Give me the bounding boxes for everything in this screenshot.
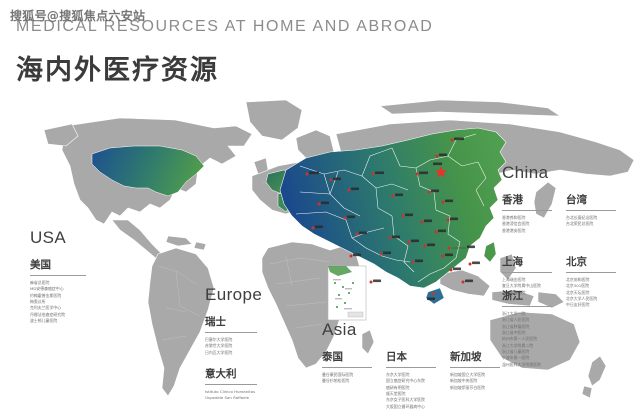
list-item: 香港港安医院 [502,228,552,234]
map-inset-south-china-sea [328,266,366,320]
list-item: Ospedale San Raffaele [205,395,262,401]
region-title-asia: Asia [322,320,500,340]
region-block-asia: Asia 泰国 曼谷康民国际医院 曼谷杉帕松医院 日本 东京大学医院 国立癌症研… [322,320,500,410]
column-head-taiwan: 台湾 [566,192,616,211]
infographic-page: 搜狐号@搜狐焦点六安站 MEDICAL RESOURCES AT HOME AN… [0,0,641,414]
page-title-cn: 海内外医疗资源 [16,48,433,87]
column-head-xianggang: 香港 [502,192,552,211]
region-block-usa: USA 美国 麻省总医院 MD安德森癌症中心 约翰霍普金斯医院 梅奥诊所 克利夫… [30,228,86,324]
column-head-ruishi: 瑞士 [205,314,257,333]
region-column-europe-0: 瑞士 巴塞尔大学医院 苏黎世大学医院 日内瓦大学医院 [205,314,262,356]
hospital-list-yidali: Istituto Clinico Humanitas Ospedale San … [205,389,262,402]
spacer [502,234,616,254]
hospital-list-ruishi: 巴塞尔大学医院 苏黎世大学医院 日内瓦大学医院 [205,337,262,356]
column-head-meiguo: 美国 [30,257,86,276]
column-head-shanghai: 上海 [502,254,552,273]
region-title-china: China [502,163,616,183]
hospital-list-taiwan: 台北长庚纪念医院 台北荣民总医院 [566,215,616,228]
list-item: 大阪国立循环器病中心 [386,404,436,410]
hospital-list-xianggang: 香港养和医院 香港浸信会医院 香港港安医院 [502,215,552,234]
list-item: 波士顿儿童医院 [30,318,86,324]
list-item: 新加坡伊丽莎白医院 [450,385,500,391]
region-title-europe: Europe [205,285,262,305]
column-head-taiguo: 泰国 [322,349,372,368]
region-column-china-hongkong: 香港 香港养和医院 香港浸信会医院 香港港安医院 [502,192,552,234]
region-block-china: China 香港 香港养和医院 香港浸信会医院 香港港安医院 台湾 台北长庚纪念… [502,163,616,309]
list-item: 台北荣民总医院 [566,221,616,227]
hospital-list-beijing: 北京协和医院 北京301医院 北京天坛医院 北京大学人民医院 中日友好医院 [566,277,616,309]
column-head-beijing: 北京 [566,254,616,273]
region-column-zhejiang: 浙江 浙江大学一院 浙江省人民医院 浙江省肿瘤医院 浙江省中医院 杭州市第一人民… [502,288,552,368]
hospital-list-zhejiang: 浙江大学一院 浙江省人民医院 浙江省肿瘤医院 浙江省中医院 杭州市第一人民医院 … [502,311,552,368]
hospital-list-meiguo: 麻省总医院 MD安德森癌症中心 约翰霍普金斯医院 梅奥诊所 克利夫兰医学中心 丹… [30,280,86,324]
column-head-zhejiang: 浙江 [502,288,552,307]
column-head-riben: 日本 [386,349,436,368]
region-column-asia-1: 日本 东京大学医院 国立癌症研究中心东院 癌研有明医院 顺天堂医院 东京女子医科… [386,349,436,410]
region-title-usa: USA [30,228,86,248]
list-item: 曼谷杉帕松医院 [322,378,372,384]
hospital-list-taiguo: 曼谷康民国际医院 曼谷杉帕松医院 [322,372,372,385]
region-column-asia-2: 新加坡 新加坡国立大学医院 新加坡中央医院 新加坡伊丽莎白医院 [450,349,500,410]
region-block-europe: Europe 瑞士 巴塞尔大学医院 苏黎世大学医院 日内瓦大学医院 意大利 Is… [205,285,262,402]
list-item: 温州医科大学附属医院 [502,362,552,368]
column-head-xinjiapo: 新加坡 [450,349,500,368]
region-column-europe-1: 意大利 Istituto Clinico Humanitas Ospedale … [205,366,262,402]
hospital-list-xinjiapo: 新加坡国立大学医院 新加坡中央医院 新加坡伊丽莎白医院 [450,372,500,391]
region-column-asia-0: 泰国 曼谷康民国际医院 曼谷杉帕松医院 [322,349,372,410]
region-column-china-beijing: 北京 北京协和医院 北京301医院 北京天坛医院 北京大学人民医院 中日友好医院 [566,254,616,309]
page-header: MEDICAL RESOURCES AT HOME AND ABROAD 海内外… [16,18,433,87]
column-head-yidali: 意大利 [205,366,257,385]
watermark-text: 搜狐号@搜狐焦点六安站 [10,7,145,24]
region-column-china-taiwan: 台湾 台北长庚纪念医院 台北荣民总医院 [566,192,616,234]
region-block-zhejiang: 浙江 浙江大学一院 浙江省人民医院 浙江省肿瘤医院 浙江省中医院 杭州市第一人民… [502,288,552,368]
spacer [205,356,262,366]
hospital-list-riben: 东京大学医院 国立癌症研究中心东院 癌研有明医院 顺天堂医院 东京女子医科大学医… [386,372,436,410]
list-item: 中日友好医院 [566,302,616,308]
region-column-usa-0: 美国 麻省总医院 MD安德森癌症中心 约翰霍普金斯医院 梅奥诊所 克利夫兰医学中… [30,257,86,324]
